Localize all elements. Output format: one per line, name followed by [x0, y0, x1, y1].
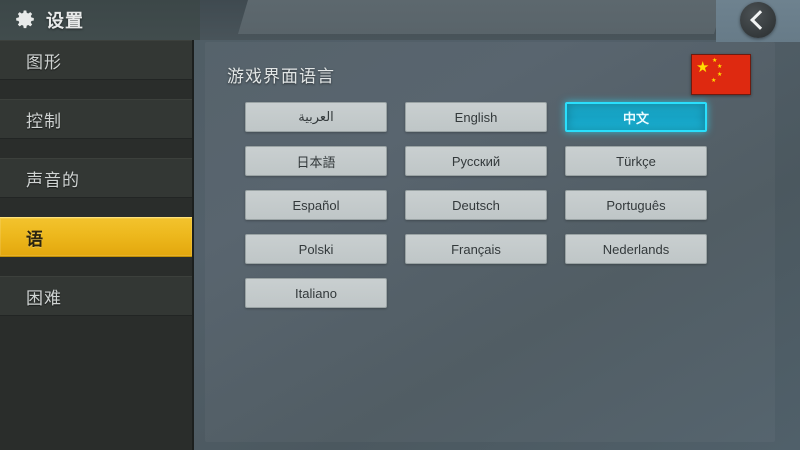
- section-heading: 游戏界面语言: [227, 62, 335, 87]
- settings-sidebar: 图形控制声音的语困难: [0, 40, 194, 450]
- sidebar-item[interactable]: 声音的: [0, 158, 192, 198]
- language-option[interactable]: Türkçe: [565, 146, 707, 176]
- flag-star-small-3: ★: [717, 72, 722, 78]
- china-flag-icon: ★ ★ ★ ★ ★: [691, 54, 751, 95]
- top-bar: 设置: [0, 0, 800, 40]
- language-option[interactable]: Deutsch: [405, 190, 547, 220]
- language-option[interactable]: Polski: [245, 234, 387, 264]
- content-panel: 游戏界面语言 ★ ★ ★ ★ ★ العربيةEnglish中文日本語Русс…: [205, 42, 775, 442]
- settings-screen: 设置 图形控制声音的语困难 游戏界面语言 ★ ★ ★ ★ ★ العربيةEn…: [0, 0, 800, 450]
- sidebar-divider: [0, 139, 192, 158]
- sidebar-item-label: 困难: [26, 284, 62, 309]
- page-title: 设置: [46, 7, 84, 33]
- sidebar-item[interactable]: 控制: [0, 99, 192, 139]
- back-button[interactable]: [740, 2, 776, 38]
- sidebar-item[interactable]: 困难: [0, 276, 192, 316]
- language-option[interactable]: English: [405, 102, 547, 132]
- sidebar-item-label: 语: [26, 225, 44, 250]
- language-option[interactable]: Nederlands: [565, 234, 707, 264]
- language-option[interactable]: Português: [565, 190, 707, 220]
- sidebar-item-label: 声音的: [26, 166, 80, 191]
- language-option[interactable]: Français: [405, 234, 547, 264]
- gear-icon: [14, 9, 36, 31]
- flag-star-small-4: ★: [711, 78, 716, 84]
- flag-star-large: ★: [696, 60, 709, 75]
- language-option[interactable]: Русский: [405, 146, 547, 176]
- language-option[interactable]: Italiano: [245, 278, 387, 308]
- sidebar-divider: [0, 198, 192, 217]
- language-option[interactable]: العربية: [245, 102, 387, 132]
- language-grid: العربيةEnglish中文日本語РусскийTürkçeEspañolD…: [245, 102, 745, 308]
- sidebar-divider: [0, 257, 192, 276]
- header-plate: [238, 0, 724, 34]
- sidebar-divider: [0, 80, 192, 99]
- sidebar-item-label: 图形: [26, 48, 62, 73]
- language-option[interactable]: 中文: [565, 102, 707, 132]
- flag-star-small-2: ★: [717, 64, 722, 70]
- language-option[interactable]: 日本語: [245, 146, 387, 176]
- sidebar-item-label: 控制: [26, 107, 62, 132]
- sidebar-item[interactable]: 图形: [0, 40, 192, 80]
- sidebar-item[interactable]: 语: [0, 217, 192, 257]
- language-option[interactable]: Español: [245, 190, 387, 220]
- window-title-group: 设置: [14, 4, 84, 36]
- chevron-left-icon: [750, 10, 770, 30]
- sidebar-divider: [0, 316, 192, 335]
